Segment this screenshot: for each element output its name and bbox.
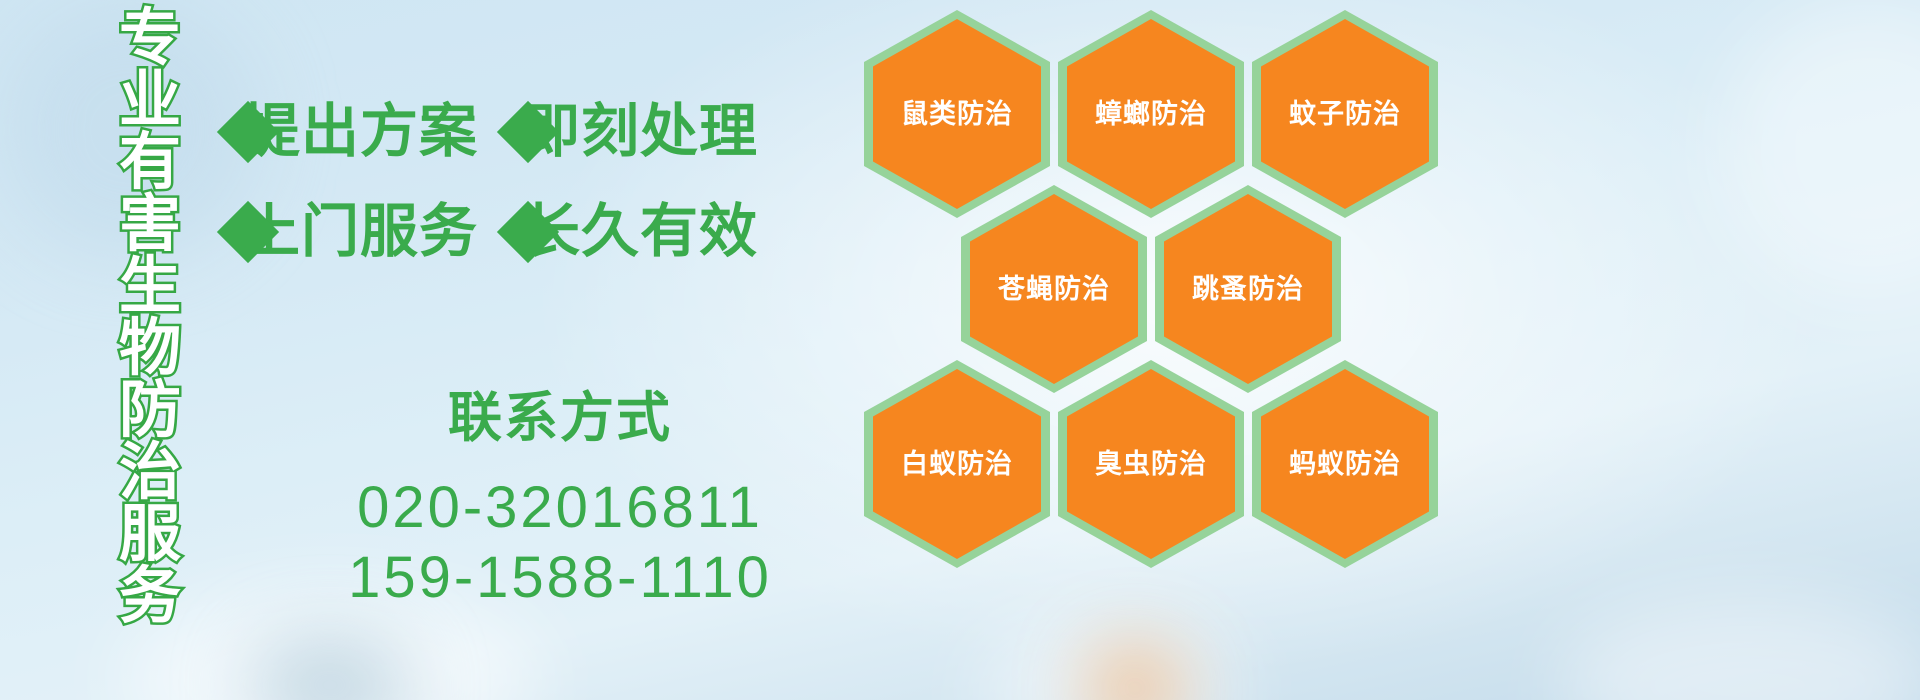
hex-inner: 蚂蚁防治 (1261, 369, 1429, 559)
service-hex-bedbug[interactable]: 臭虫防治 (1058, 360, 1244, 568)
contact-block: 联系方式 020-32016811 159-1588-1110 (300, 390, 820, 614)
feature-item: 即刻处理 (506, 103, 758, 161)
feature-item: 长久有效 (506, 203, 758, 261)
service-hex-fly[interactable]: 苍蝇防治 (961, 185, 1147, 393)
vertical-title-char: 业 (119, 70, 181, 132)
feature-row: 上门服务 长久有效 (226, 182, 866, 282)
service-label: 鼠类防治 (901, 101, 1013, 128)
vertical-title: 专 业 有 害 生 物 防 治 服 务 (104, 8, 196, 564)
feature-item: 上门服务 (226, 203, 478, 261)
phone-mobile[interactable]: 159-1588-1110 (300, 543, 820, 614)
service-label: 蚂蚁防治 (1289, 451, 1401, 478)
service-label: 跳蚤防治 (1192, 276, 1304, 303)
service-hex-rodent[interactable]: 鼠类防治 (864, 10, 1050, 218)
hex-inner: 蚊子防治 (1261, 19, 1429, 209)
vertical-title-char: 服 (119, 504, 181, 566)
service-hex-flea[interactable]: 跳蚤防治 (1155, 185, 1341, 393)
vertical-title-char: 防 (119, 380, 181, 442)
vertical-title-char: 专 (119, 8, 181, 70)
background-blob (1560, 600, 1920, 700)
feature-item: 提出方案 (226, 103, 478, 161)
service-hexagon-grid: 鼠类防治 蟑螂防治 蚊子防治 苍蝇防治 跳蚤防治 白蚁防治 (858, 0, 1458, 560)
vertical-title-char: 有 (119, 132, 181, 194)
feature-row: 提出方案 即刻处理 (226, 82, 866, 182)
hex-inner: 跳蚤防治 (1164, 194, 1332, 384)
hex-inner: 鼠类防治 (873, 19, 1041, 209)
service-label: 白蚁防治 (901, 451, 1013, 478)
background-blob (980, 620, 1240, 700)
vertical-title-char: 生 (119, 256, 181, 318)
vertical-title-char: 治 (119, 442, 181, 504)
service-label: 蚊子防治 (1289, 101, 1401, 128)
hex-inner: 苍蝇防治 (970, 194, 1138, 384)
vertical-title-char: 务 (119, 566, 181, 628)
background-blob (1090, 648, 1180, 700)
hex-inner: 臭虫防治 (1067, 369, 1235, 559)
service-hex-cockroach[interactable]: 蟑螂防治 (1058, 10, 1244, 218)
feature-list: 提出方案 即刻处理 上门服务 长久有效 (226, 82, 866, 282)
vertical-title-char: 害 (119, 194, 181, 256)
service-label: 蟑螂防治 (1095, 101, 1207, 128)
background-blob (250, 640, 410, 700)
background-blob (1720, 0, 1920, 300)
service-hex-ant[interactable]: 蚂蚁防治 (1252, 360, 1438, 568)
hex-inner: 蟑螂防治 (1067, 19, 1235, 209)
hex-inner: 白蚁防治 (873, 369, 1041, 559)
phone-landline[interactable]: 020-32016811 (300, 473, 820, 544)
service-label: 臭虫防治 (1095, 451, 1207, 478)
vertical-title-char: 物 (119, 318, 181, 380)
service-hex-termite[interactable]: 白蚁防治 (864, 360, 1050, 568)
service-label: 苍蝇防治 (998, 276, 1110, 303)
pest-control-banner: 专 业 有 害 生 物 防 治 服 务 提出方案 即刻处理 上门服务 (0, 0, 1920, 700)
service-hex-mosquito[interactable]: 蚊子防治 (1252, 10, 1438, 218)
contact-heading: 联系方式 (300, 390, 820, 447)
